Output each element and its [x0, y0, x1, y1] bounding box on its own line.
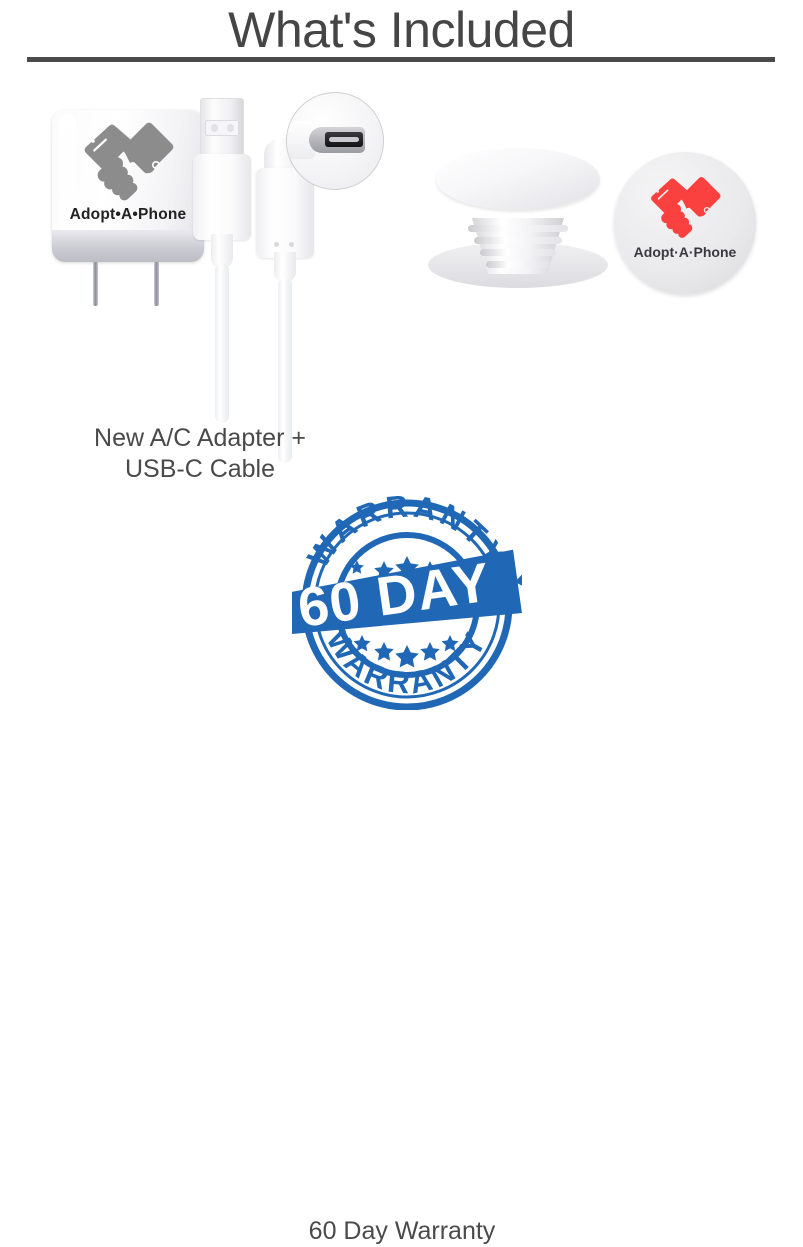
included-item-adapter-cable: Adopt•A•Phone New A/C Adapter + USB-C Ca…: [0, 80, 400, 420]
title-divider: [27, 57, 775, 62]
adapter-wordmark: Adopt•A•Phone: [52, 206, 204, 224]
caption-adapter-cable: New A/C Adapter + USB-C Cable: [20, 423, 380, 485]
stand-logo-disc: Adopt·A·Phone: [614, 152, 756, 294]
popsocket-top-disc: [436, 148, 600, 210]
usb-c-dot: [289, 242, 294, 247]
page-title: What's Included: [0, 2, 803, 58]
magnifier-inset-icon: [286, 92, 384, 190]
disc-wordmark: Adopt·A·Phone: [614, 244, 756, 260]
adapter-band: [52, 230, 204, 262]
handshake-icon: [638, 172, 732, 242]
popsocket-pleat: [486, 261, 550, 268]
usb-c-housing: [256, 168, 314, 258]
plug-prong-left: [93, 262, 98, 306]
caption-warranty: 60 Day Warranty: [252, 1216, 552, 1247]
popsocket-pleat: [468, 225, 568, 232]
adapter-body: Adopt•A•Phone: [52, 110, 204, 262]
popsocket-icon: [428, 148, 608, 288]
popsocket-pleat: [474, 237, 562, 244]
popsocket-pleat: [480, 249, 556, 256]
usb-a-wire: [215, 263, 229, 423]
ac-adapter-icon: Adopt•A•Phone: [52, 110, 204, 300]
plug-prong-right: [154, 262, 159, 306]
handshake-icon: [68, 120, 188, 202]
usb-c-dot: [274, 242, 279, 247]
usb-a-hole: [211, 124, 218, 132]
inset-usb-c-tongue: [329, 137, 359, 142]
warranty-stamp-icon: WARRANTY WARRANTY 60 DAY: [292, 495, 522, 710]
usb-a-housing: [193, 154, 251, 240]
included-item-warranty: WARRANTY WARRANTY 60 DAY 60 Day Warranty: [0, 490, 803, 777]
usb-a-hole: [227, 124, 234, 132]
included-item-phone-stand: Adopt·A·Phone Adopt-A-Phone Phone Stand: [400, 80, 803, 420]
star-icon: [395, 645, 419, 667]
